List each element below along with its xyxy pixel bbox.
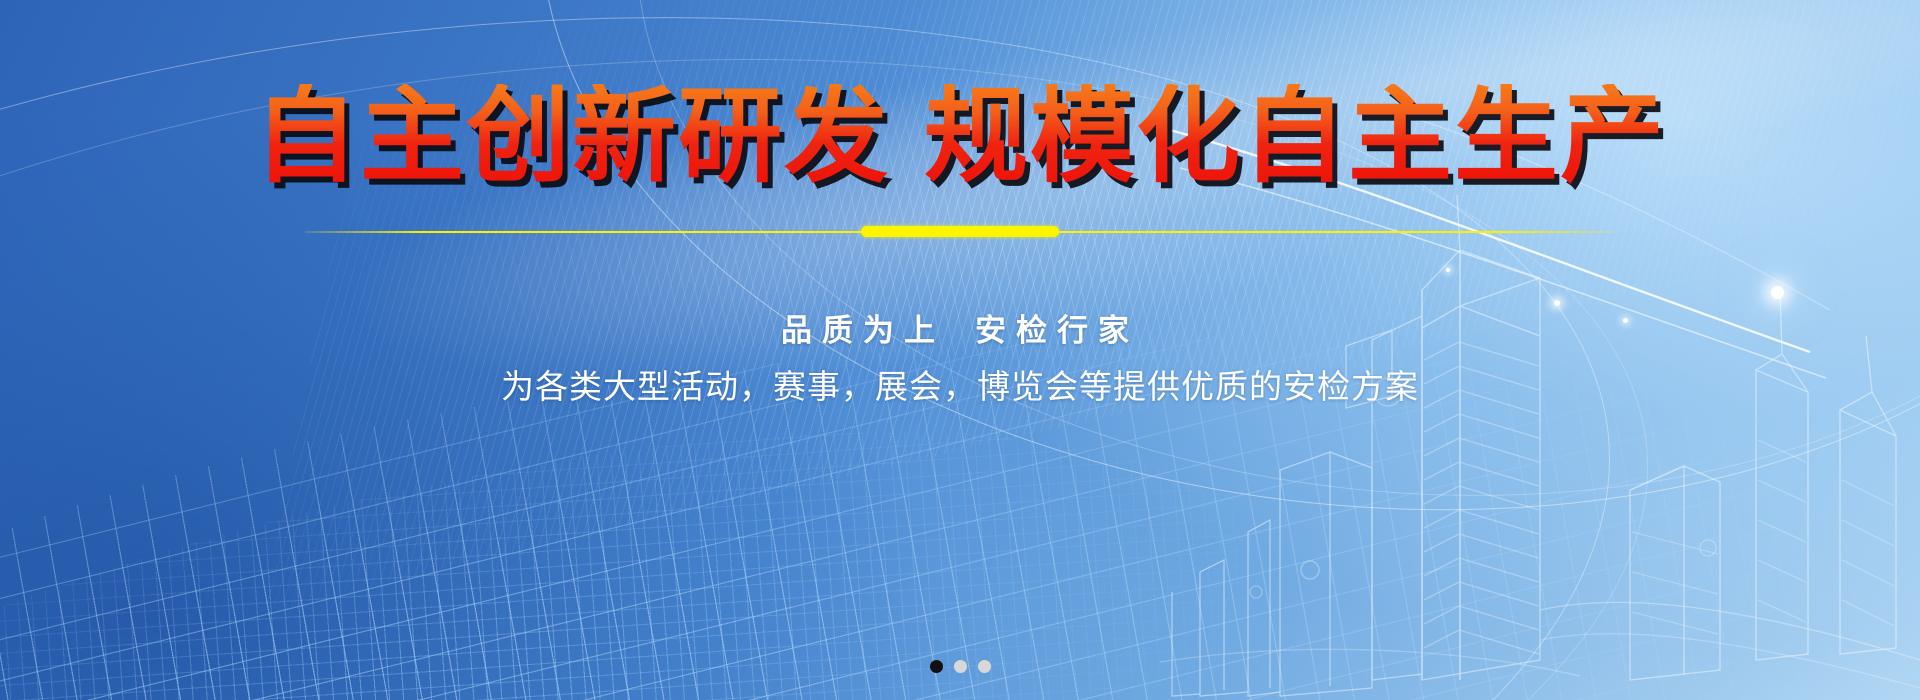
headline-part-2: 规模化自主生产 bbox=[924, 75, 1666, 197]
slogan-right: 安检行家 bbox=[975, 313, 1139, 349]
banner-slogan: 品质为上安检行家 bbox=[0, 305, 1920, 350]
banner-headline: 自主创新研发规模化自主生产 bbox=[0, 84, 1920, 188]
hero-banner: 自主创新研发规模化自主生产 品质为上安检行家 为各类大型活动，赛事，展会，博览会… bbox=[0, 0, 1920, 700]
headline-divider bbox=[0, 226, 1920, 238]
headline-part-1: 自主创新研发 bbox=[254, 75, 890, 197]
banner-content: 自主创新研发规模化自主生产 品质为上安检行家 为各类大型活动，赛事，展会，博览会… bbox=[0, 0, 1920, 700]
carousel-dot-1[interactable] bbox=[930, 660, 943, 673]
divider-center-bar bbox=[861, 226, 1059, 237]
carousel-dot-3[interactable] bbox=[978, 660, 991, 673]
carousel-dots[interactable] bbox=[0, 660, 1920, 673]
slogan-left: 品质为上 bbox=[781, 313, 945, 349]
carousel-dot-2[interactable] bbox=[954, 660, 967, 673]
banner-subtitle: 为各类大型活动，赛事，展会，博览会等提供优质的安检方案 bbox=[0, 360, 1920, 408]
